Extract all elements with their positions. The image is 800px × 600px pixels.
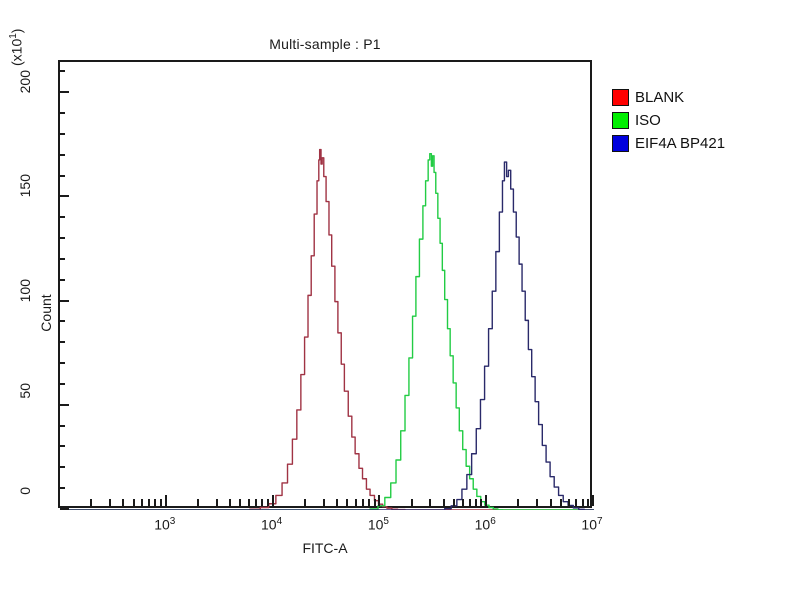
x-tick-exponent: 6 bbox=[490, 516, 496, 527]
x-minor-tick bbox=[248, 499, 250, 506]
legend-color-swatch bbox=[612, 112, 629, 129]
y-major-tick bbox=[60, 404, 69, 406]
x-minor-tick bbox=[550, 499, 552, 506]
x-minor-tick bbox=[261, 499, 263, 506]
x-minor-tick bbox=[323, 499, 325, 506]
y-minor-tick bbox=[60, 383, 65, 385]
y-minor-tick bbox=[60, 216, 65, 218]
chart-legend: BLANKISOEIF4A BP421 bbox=[612, 86, 725, 155]
x-minor-tick bbox=[154, 499, 156, 506]
x-axis-title: FITC-A bbox=[58, 540, 592, 556]
x-major-tick bbox=[165, 495, 167, 506]
x-minor-tick bbox=[362, 499, 364, 506]
x-minor-tick bbox=[411, 499, 413, 506]
x-minor-tick bbox=[475, 499, 477, 506]
x-minor-tick bbox=[148, 499, 150, 506]
x-minor-tick bbox=[216, 499, 218, 506]
x-minor-tick bbox=[469, 499, 471, 506]
x-minor-tick bbox=[255, 499, 257, 506]
y-minor-tick bbox=[60, 362, 65, 364]
y-tick-label: 100 bbox=[17, 279, 33, 319]
y-minor-tick bbox=[60, 70, 65, 72]
x-tick-label: 104 bbox=[242, 516, 302, 533]
x-tick-exponent: 3 bbox=[170, 516, 176, 527]
x-minor-tick bbox=[480, 499, 482, 506]
chart-title: Multi-sample : P1 bbox=[58, 36, 592, 52]
x-minor-tick bbox=[429, 499, 431, 506]
x-major-tick bbox=[378, 495, 380, 506]
y-tick-label: 50 bbox=[17, 383, 33, 423]
x-minor-tick bbox=[443, 499, 445, 506]
y-axis-multiplier-text: (x10 bbox=[9, 39, 25, 66]
legend-item-iso[interactable]: ISO bbox=[612, 109, 725, 131]
y-minor-tick bbox=[60, 320, 65, 322]
x-minor-tick bbox=[453, 499, 455, 506]
x-tick-label: 107 bbox=[562, 516, 622, 533]
legend-item-label: BLANK bbox=[635, 89, 684, 106]
y-tick-label: 200 bbox=[17, 70, 33, 110]
x-minor-tick bbox=[575, 499, 577, 506]
x-minor-tick bbox=[133, 499, 135, 506]
y-major-tick bbox=[60, 508, 69, 510]
y-minor-tick bbox=[60, 466, 65, 468]
legend-item-blank[interactable]: BLANK bbox=[612, 86, 725, 108]
x-tick-base: 10 bbox=[475, 517, 491, 533]
x-tick-exponent: 4 bbox=[277, 516, 283, 527]
y-axis-title: Count bbox=[38, 253, 54, 373]
y-minor-tick bbox=[60, 154, 65, 156]
y-minor-tick bbox=[60, 258, 65, 260]
x-minor-tick bbox=[587, 499, 589, 506]
x-minor-tick bbox=[336, 499, 338, 506]
flow-cytometry-histogram-page: Multi-sample : P1 (x101) Count 050100150… bbox=[0, 0, 800, 600]
legend-color-swatch bbox=[612, 89, 629, 106]
y-axis-multiplier-exponent: 1 bbox=[8, 33, 19, 39]
x-tick-label: 103 bbox=[135, 516, 195, 533]
y-minor-tick bbox=[60, 112, 65, 114]
x-minor-tick bbox=[304, 499, 306, 506]
x-tick-base: 10 bbox=[261, 517, 277, 533]
legend-item-label: ISO bbox=[635, 112, 661, 129]
y-minor-tick bbox=[60, 133, 65, 135]
legend-color-swatch bbox=[612, 135, 629, 152]
x-minor-tick bbox=[160, 499, 162, 506]
x-minor-tick bbox=[368, 499, 370, 506]
plot-frame bbox=[58, 60, 592, 508]
y-axis-title-wrap: Count bbox=[0, 60, 1, 508]
x-tick-label: 105 bbox=[348, 516, 408, 533]
plot-canvas bbox=[60, 62, 594, 510]
y-minor-tick bbox=[60, 487, 65, 489]
legend-item-label: EIF4A BP421 bbox=[635, 135, 725, 152]
x-minor-tick bbox=[90, 499, 92, 506]
x-minor-tick bbox=[122, 499, 124, 506]
x-minor-tick bbox=[536, 499, 538, 506]
y-minor-tick bbox=[60, 237, 65, 239]
x-minor-tick bbox=[239, 499, 241, 506]
x-minor-tick bbox=[560, 499, 562, 506]
x-minor-tick bbox=[229, 499, 231, 506]
x-minor-tick bbox=[346, 499, 348, 506]
x-tick-base: 10 bbox=[368, 517, 384, 533]
x-minor-tick bbox=[197, 499, 199, 506]
y-tick-label: 150 bbox=[17, 174, 33, 214]
x-tick-exponent: 5 bbox=[383, 516, 389, 527]
y-major-tick bbox=[60, 195, 69, 197]
x-major-tick bbox=[485, 495, 487, 506]
x-minor-tick bbox=[582, 499, 584, 506]
y-minor-tick bbox=[60, 341, 65, 343]
y-minor-tick bbox=[60, 175, 65, 177]
y-major-tick bbox=[60, 91, 69, 93]
x-minor-tick bbox=[109, 499, 111, 506]
x-minor-tick bbox=[462, 499, 464, 506]
x-tick-label: 106 bbox=[455, 516, 515, 533]
x-minor-tick bbox=[267, 499, 269, 506]
y-minor-tick bbox=[60, 279, 65, 281]
y-axis-multiplier-close: ) bbox=[9, 29, 25, 34]
x-minor-tick bbox=[355, 499, 357, 506]
y-tick-label: 0 bbox=[17, 487, 33, 527]
x-major-tick bbox=[592, 495, 594, 506]
y-minor-tick bbox=[60, 445, 65, 447]
y-minor-tick bbox=[60, 425, 65, 427]
x-minor-tick bbox=[374, 499, 376, 506]
y-axis-multiplier: (x101) bbox=[8, 29, 25, 66]
x-tick-exponent: 7 bbox=[597, 516, 603, 527]
x-major-tick bbox=[58, 495, 60, 506]
x-minor-tick bbox=[517, 499, 519, 506]
legend-item-eif4a-bp421[interactable]: EIF4A BP421 bbox=[612, 132, 725, 154]
x-tick-base: 10 bbox=[581, 517, 597, 533]
y-major-tick bbox=[60, 300, 69, 302]
histogram-curve-eif4a-bp421 bbox=[60, 162, 594, 510]
x-major-tick bbox=[272, 495, 274, 506]
x-minor-tick bbox=[141, 499, 143, 506]
x-tick-base: 10 bbox=[154, 517, 170, 533]
x-minor-tick bbox=[568, 499, 570, 506]
